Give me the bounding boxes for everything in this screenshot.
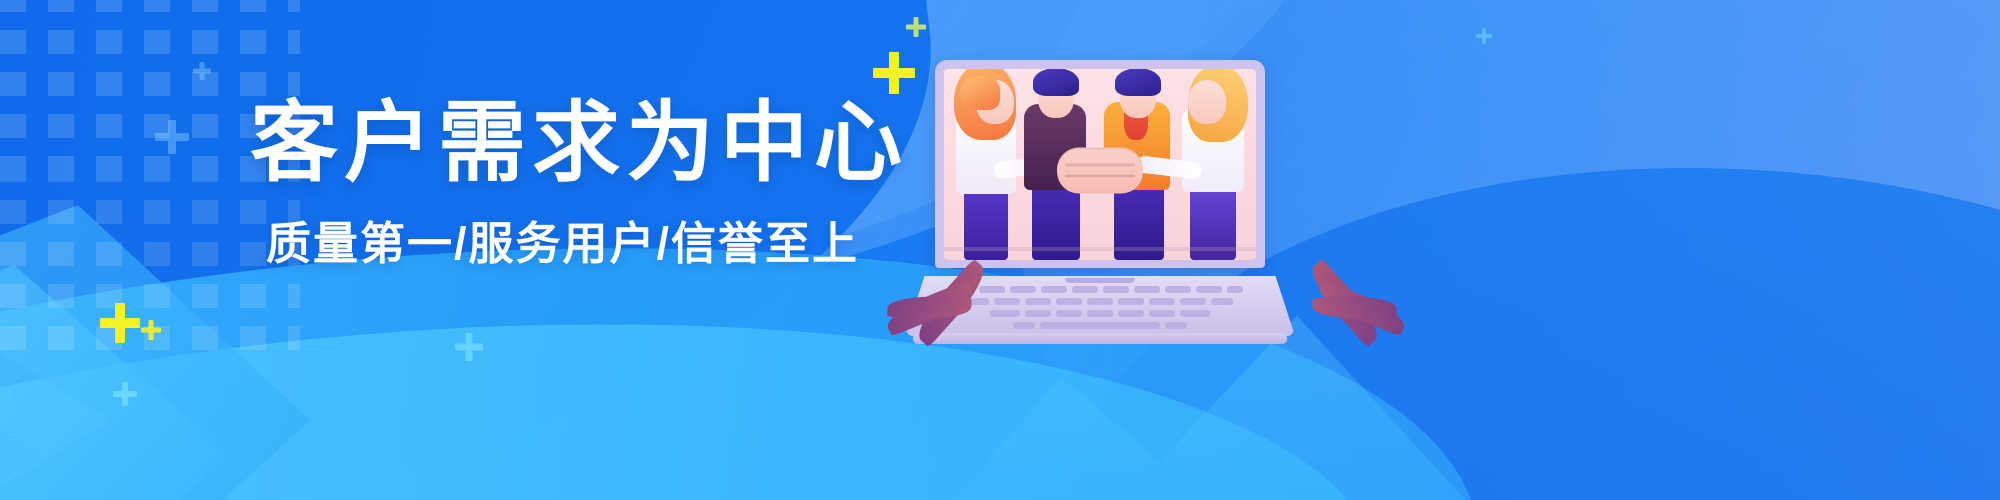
laptop-foot [913, 333, 1287, 344]
hair [1033, 69, 1079, 96]
key [1227, 286, 1243, 293]
plus-yellow-small-top-icon [906, 17, 926, 37]
key [1103, 286, 1129, 293]
spacebar-key [1040, 322, 1160, 329]
banner-subline: 质量第一/服务用户/信誉至上 [266, 219, 870, 269]
key [1072, 286, 1098, 293]
key [1118, 310, 1144, 317]
key [1165, 322, 1187, 329]
banner-copy: 客户需求为中心 质量第一/服务用户/信誉至上 [250, 96, 870, 269]
key [1056, 310, 1082, 317]
keyboard-row-spacebar [905, 322, 1295, 329]
key [1013, 322, 1035, 329]
key [1087, 298, 1113, 305]
key [1010, 286, 1036, 293]
key [979, 286, 1005, 293]
key [1180, 298, 1206, 305]
hair [1115, 69, 1161, 96]
key [1118, 298, 1144, 305]
laptop-lid [935, 60, 1265, 268]
key [1025, 310, 1051, 317]
key [1180, 310, 1210, 317]
key [1211, 298, 1233, 305]
leaf-right-3 [1312, 295, 1397, 320]
laptop-screen [944, 69, 1256, 260]
laptop-teamwork-illustration [905, 60, 1295, 350]
head [1188, 80, 1226, 124]
key [990, 310, 1020, 317]
stacked-hands [1057, 147, 1143, 193]
person-woman-orange-hair [948, 70, 1026, 260]
plus-cyan-bottom-left-icon [113, 382, 137, 406]
key [1041, 286, 1067, 293]
key [1149, 298, 1175, 305]
key [1087, 310, 1113, 317]
plus-cyan-center-icon [455, 333, 483, 361]
key [1196, 286, 1222, 293]
banner-headline: 客户需求为中心 [250, 96, 870, 189]
key [1025, 298, 1051, 305]
key [1165, 286, 1191, 293]
person-woman-blonde [1176, 69, 1256, 260]
key [1134, 286, 1160, 293]
hair-front [960, 76, 1000, 110]
key [1149, 310, 1175, 317]
key [994, 298, 1020, 305]
promo-banner: 客户需求为中心 质量第一/服务用户/信誉至上 [0, 0, 2000, 500]
plus-cyan-top-right-icon [1476, 28, 1492, 44]
screen-floor-line [944, 247, 1256, 251]
key [1056, 298, 1082, 305]
